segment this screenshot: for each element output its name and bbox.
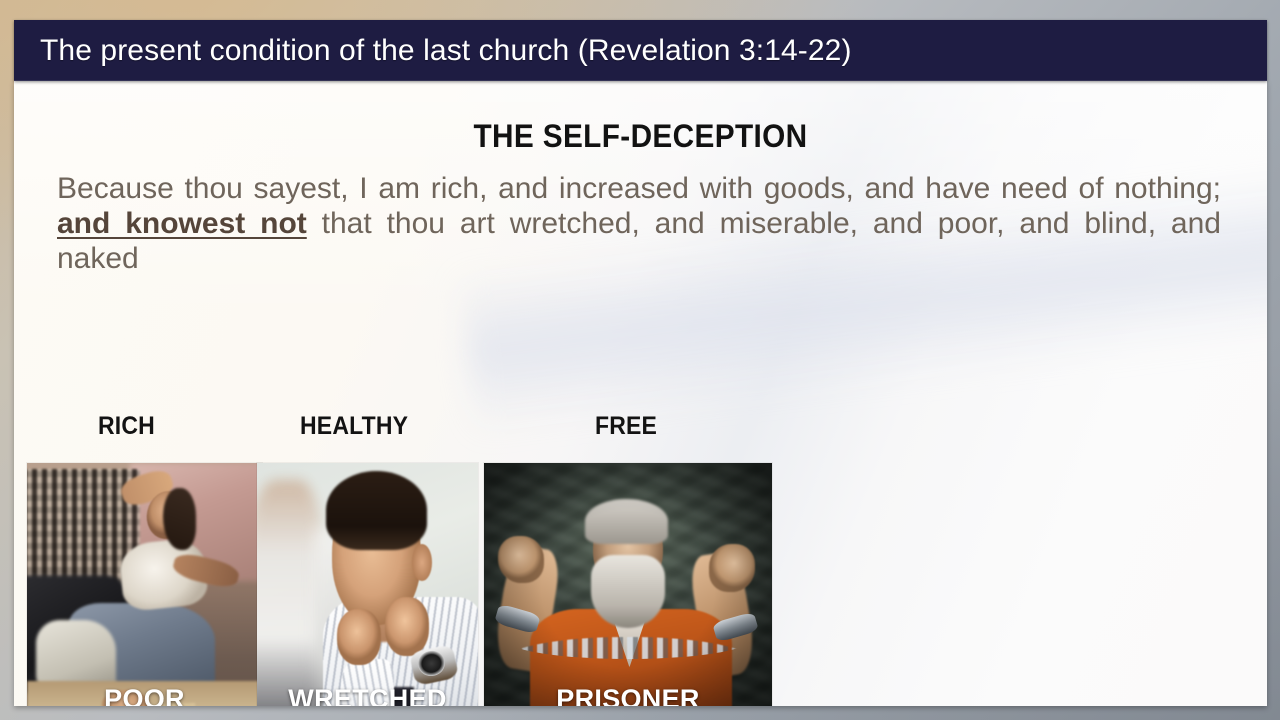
slide-body: THE SELF-DECEPTION Because thou sayest, …	[14, 81, 1267, 706]
category-label-row: RICH HEALTHY FREE	[14, 412, 1267, 454]
slide-title: The present condition of the last church…	[14, 34, 852, 68]
slide-frame: The present condition of the last church…	[0, 0, 1280, 720]
chained-prisoner-scene	[484, 463, 772, 706]
poor-man-photo: POOR	[27, 463, 262, 706]
category-label-rich: RICH	[98, 412, 155, 441]
scripture-verse: Because thou sayest, I am rich, and incr…	[57, 171, 1221, 276]
ear-shape	[412, 544, 432, 580]
verse-highlight: and knowest not	[57, 207, 307, 240]
category-label-healthy: HEALTHY	[300, 412, 408, 441]
photo-row: POOR	[14, 463, 1267, 706]
category-label-free: FREE	[595, 412, 657, 441]
photo-caption-wretched: WRETCHED	[257, 684, 478, 706]
background-person-shape	[257, 480, 323, 706]
slide-title-bar: The present condition of the last church…	[14, 20, 1267, 81]
slide-content: THE SELF-DECEPTION Because thou sayest, …	[14, 118, 1267, 706]
pensive-man-photo: WRETCHED	[257, 463, 478, 706]
page-title: THE SELF-DECEPTION	[58, 118, 1223, 155]
hair-shape	[326, 471, 428, 549]
right-fist-shape	[385, 597, 429, 656]
left-fist-shape	[337, 609, 381, 665]
vignette-overlay	[484, 463, 772, 706]
photo-caption-poor: POOR	[27, 684, 262, 706]
verse-part-one: Because thou sayest, I am rich, and incr…	[57, 172, 1221, 205]
pensive-man-scene	[257, 463, 478, 706]
hair-shape	[163, 488, 196, 550]
chained-prisoner-photo: PRISONER	[484, 463, 772, 706]
poor-man-scene	[27, 463, 262, 706]
photo-caption-prisoner: PRISONER	[484, 684, 772, 706]
